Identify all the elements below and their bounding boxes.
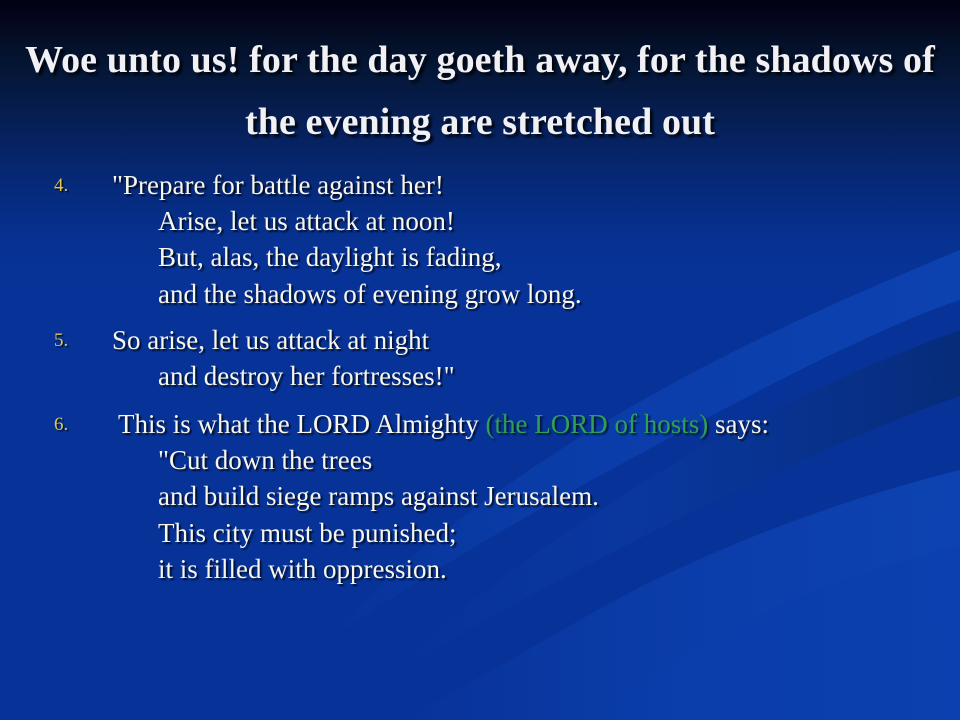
list-item-number: 5. xyxy=(54,328,88,353)
lead-text-after-parenthetical: says: xyxy=(708,409,769,439)
list-item-subline: This city must be punished; xyxy=(112,515,926,551)
list-item-subline: Arise, let us attack at noon! xyxy=(112,203,926,239)
list-item-subline: But, alas, the daylight is fading, xyxy=(112,239,926,275)
lead-text-before-parenthetical: This is what the LORD Almighty xyxy=(118,409,486,439)
list-item-lead: "Prepare for battle against her! xyxy=(112,167,926,203)
list-item-subline: "Cut down the trees xyxy=(112,442,926,478)
list-item-lead: So arise, let us attack at night xyxy=(112,322,926,358)
list-item-subline: it is filled with oppression. xyxy=(112,551,926,587)
list-item-subline: and the shadows of evening grow long. xyxy=(112,276,926,312)
list-item: 4. "Prepare for battle against her! Aris… xyxy=(46,167,926,312)
list-item-number: 4. xyxy=(54,173,88,198)
list-item-subline: and destroy her fortresses!" xyxy=(112,358,926,394)
list-item: 6. This is what the LORD Almighty (the L… xyxy=(46,406,926,587)
list-item: 5. So arise, let us attack at night and … xyxy=(46,322,926,394)
list-item-number: 6. xyxy=(54,412,88,437)
slide-title: Woe unto us! for the day goeth away, for… xyxy=(0,30,960,154)
list-item-subline: and build siege ramps against Jerusalem. xyxy=(112,478,926,514)
list-item-lead: This is what the LORD Almighty (the LORD… xyxy=(112,406,926,442)
parenthetical-gloss: (the LORD of hosts) xyxy=(486,409,709,439)
slide-body: 4. "Prepare for battle against her! Aris… xyxy=(46,167,926,593)
presentation-slide: Woe unto us! for the day goeth away, for… xyxy=(0,0,960,720)
